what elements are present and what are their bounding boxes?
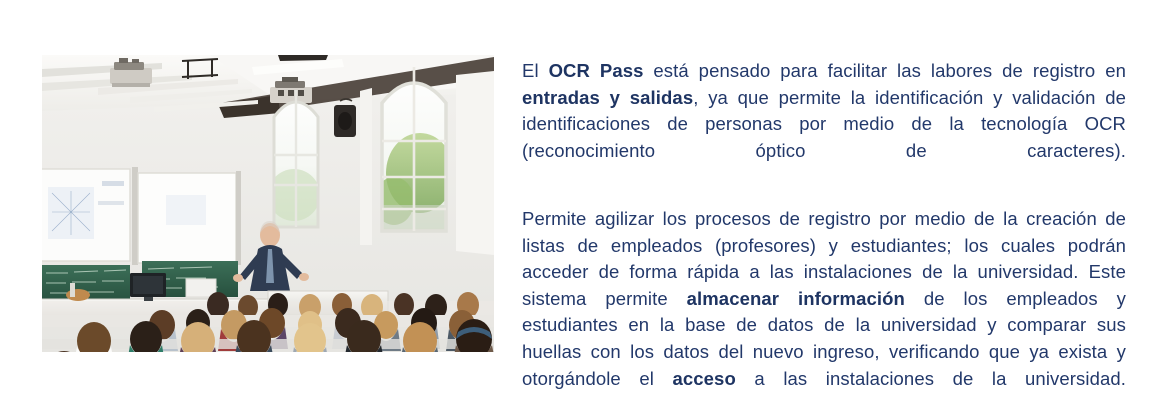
paragraph-2-segment-3-bold: acceso bbox=[673, 368, 736, 389]
paragraph-1-segment-3-bold: entradas y salidas bbox=[522, 87, 693, 108]
paragraph-1-segment-1-bold: OCR Pass bbox=[549, 60, 644, 81]
paragraph-1-segment-2: está pensado para facilitar las labores … bbox=[644, 60, 1127, 81]
paragraph-1: El OCR Pass está pensado para facilitar … bbox=[522, 58, 1126, 191]
paragraph-2-segment-4: a las instalaciones de la universidad. bbox=[736, 368, 1126, 389]
paragraph-2: Permite agilizar los procesos de registr… bbox=[522, 206, 1126, 419]
paragraph-2-segment-1-bold: almacenar información bbox=[687, 288, 905, 309]
lecture-hall-illustration bbox=[42, 55, 494, 352]
paragraph-1-segment-0: El bbox=[522, 60, 549, 81]
page-root: El OCR Pass está pensado para facilitar … bbox=[0, 0, 1175, 417]
lecture-hall-photo bbox=[42, 55, 494, 352]
description-text-column: El OCR Pass está pensado para facilitar … bbox=[522, 58, 1126, 419]
